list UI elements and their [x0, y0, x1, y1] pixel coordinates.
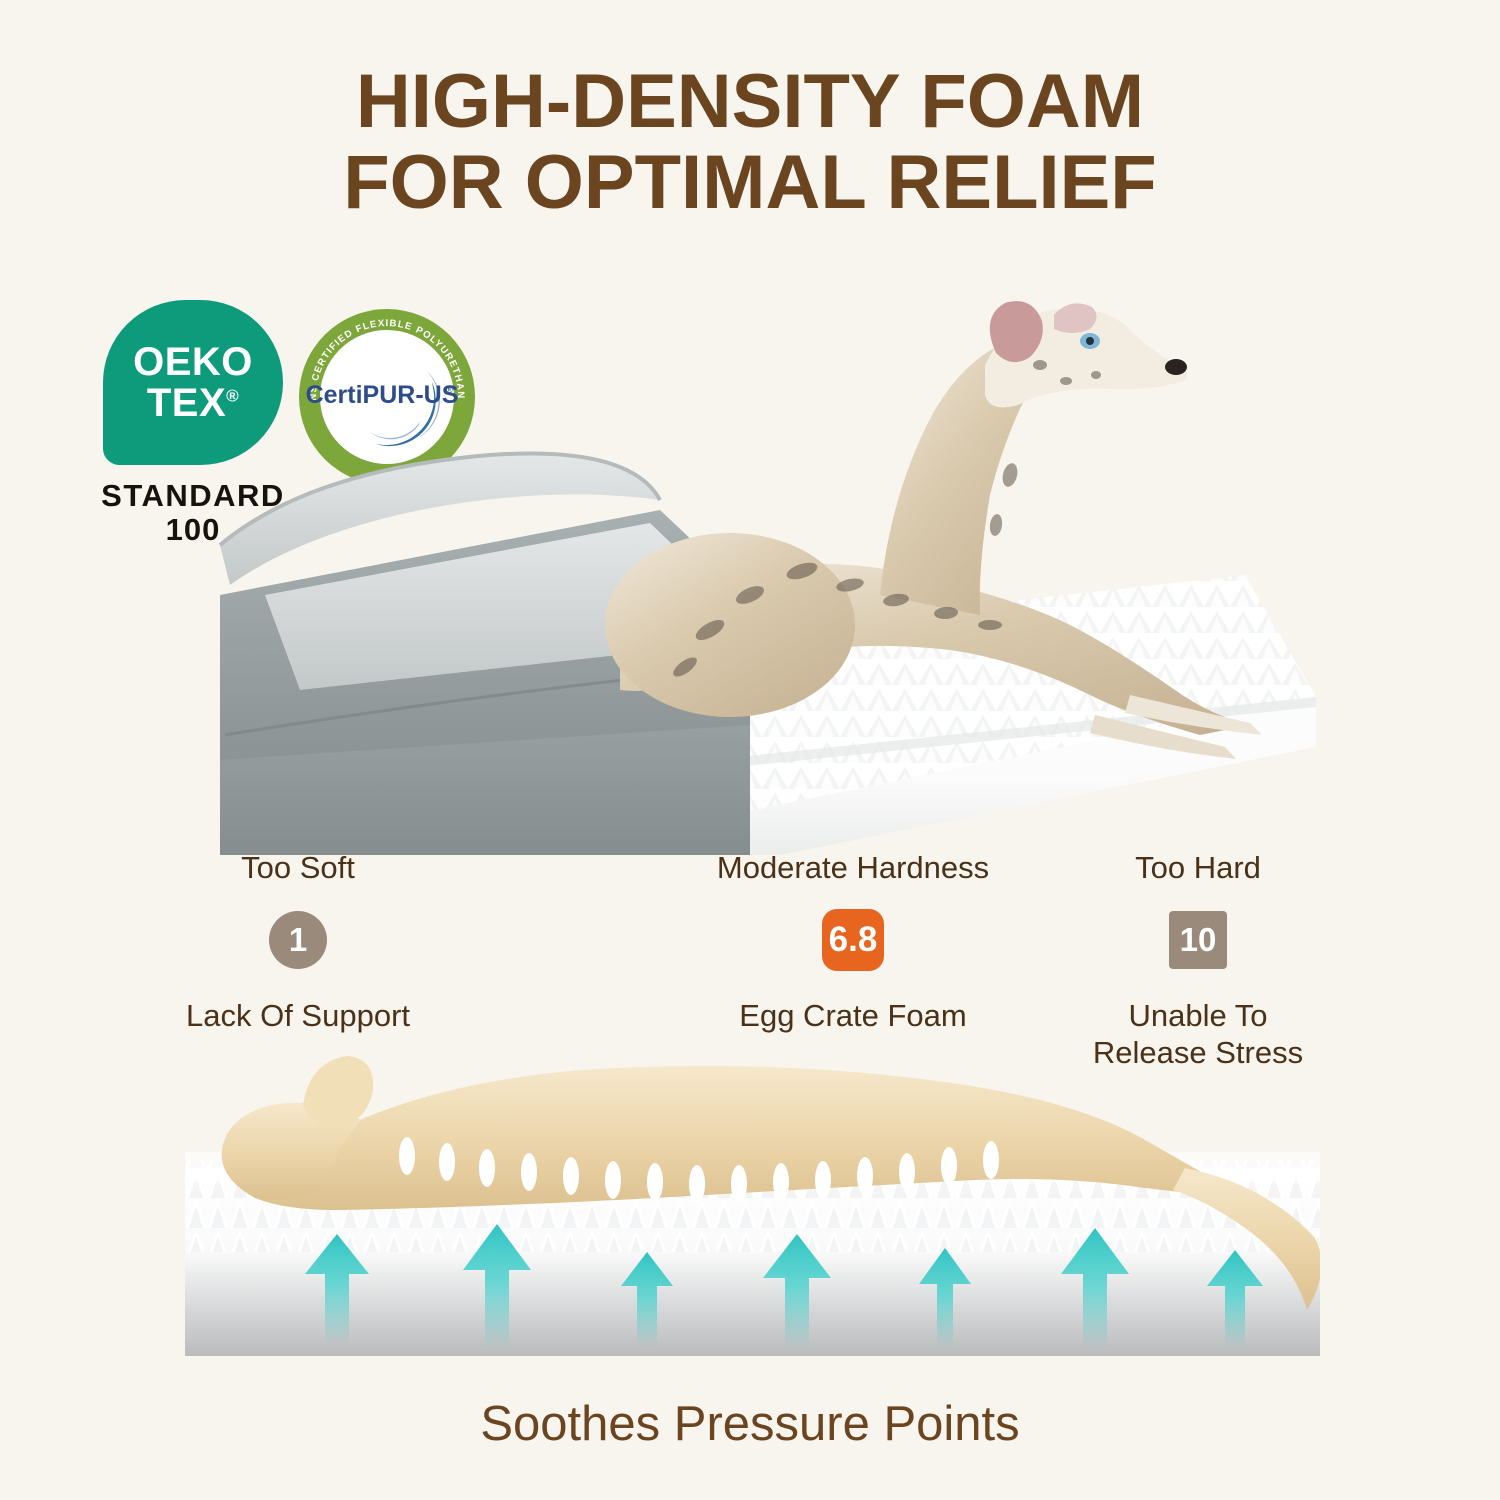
scale-node-3-value: 10: [1169, 911, 1227, 969]
scale-node-1-value: 1: [269, 911, 327, 969]
pressure-points-illustration: [185, 1048, 1320, 1368]
infographic-root: HIGH-DENSITY FOAM FOR OPTIMAL RELIEF OEK…: [0, 0, 1500, 1500]
title-line-1: HIGH-DENSITY FOAM: [0, 62, 1500, 143]
product-photo-illustration: [190, 295, 1320, 855]
pressure-points-photo: [185, 1048, 1320, 1368]
scale-node-1-bottom-label: Lack Of Support: [186, 998, 410, 1035]
product-photo-dog-on-bed: [190, 295, 1320, 855]
hardness-scale: Too Soft 1 Lack Of Support Moderate Hard…: [0, 852, 1500, 1052]
scale-node-2-value: 6.8: [822, 909, 884, 971]
scale-node-2-bottom-label: Egg Crate Foam: [739, 998, 966, 1035]
scale-node-1-top-label: Too Soft: [241, 850, 355, 886]
scale-node-3-top-label: Too Hard: [1135, 850, 1261, 886]
scale-node-2-top-label: Moderate Hardness: [717, 850, 989, 886]
title-line-2: FOR OPTIMAL RELIEF: [0, 143, 1500, 224]
footer-caption: Soothes Pressure Points: [0, 1396, 1500, 1452]
page-title: HIGH-DENSITY FOAM FOR OPTIMAL RELIEF: [0, 62, 1500, 223]
